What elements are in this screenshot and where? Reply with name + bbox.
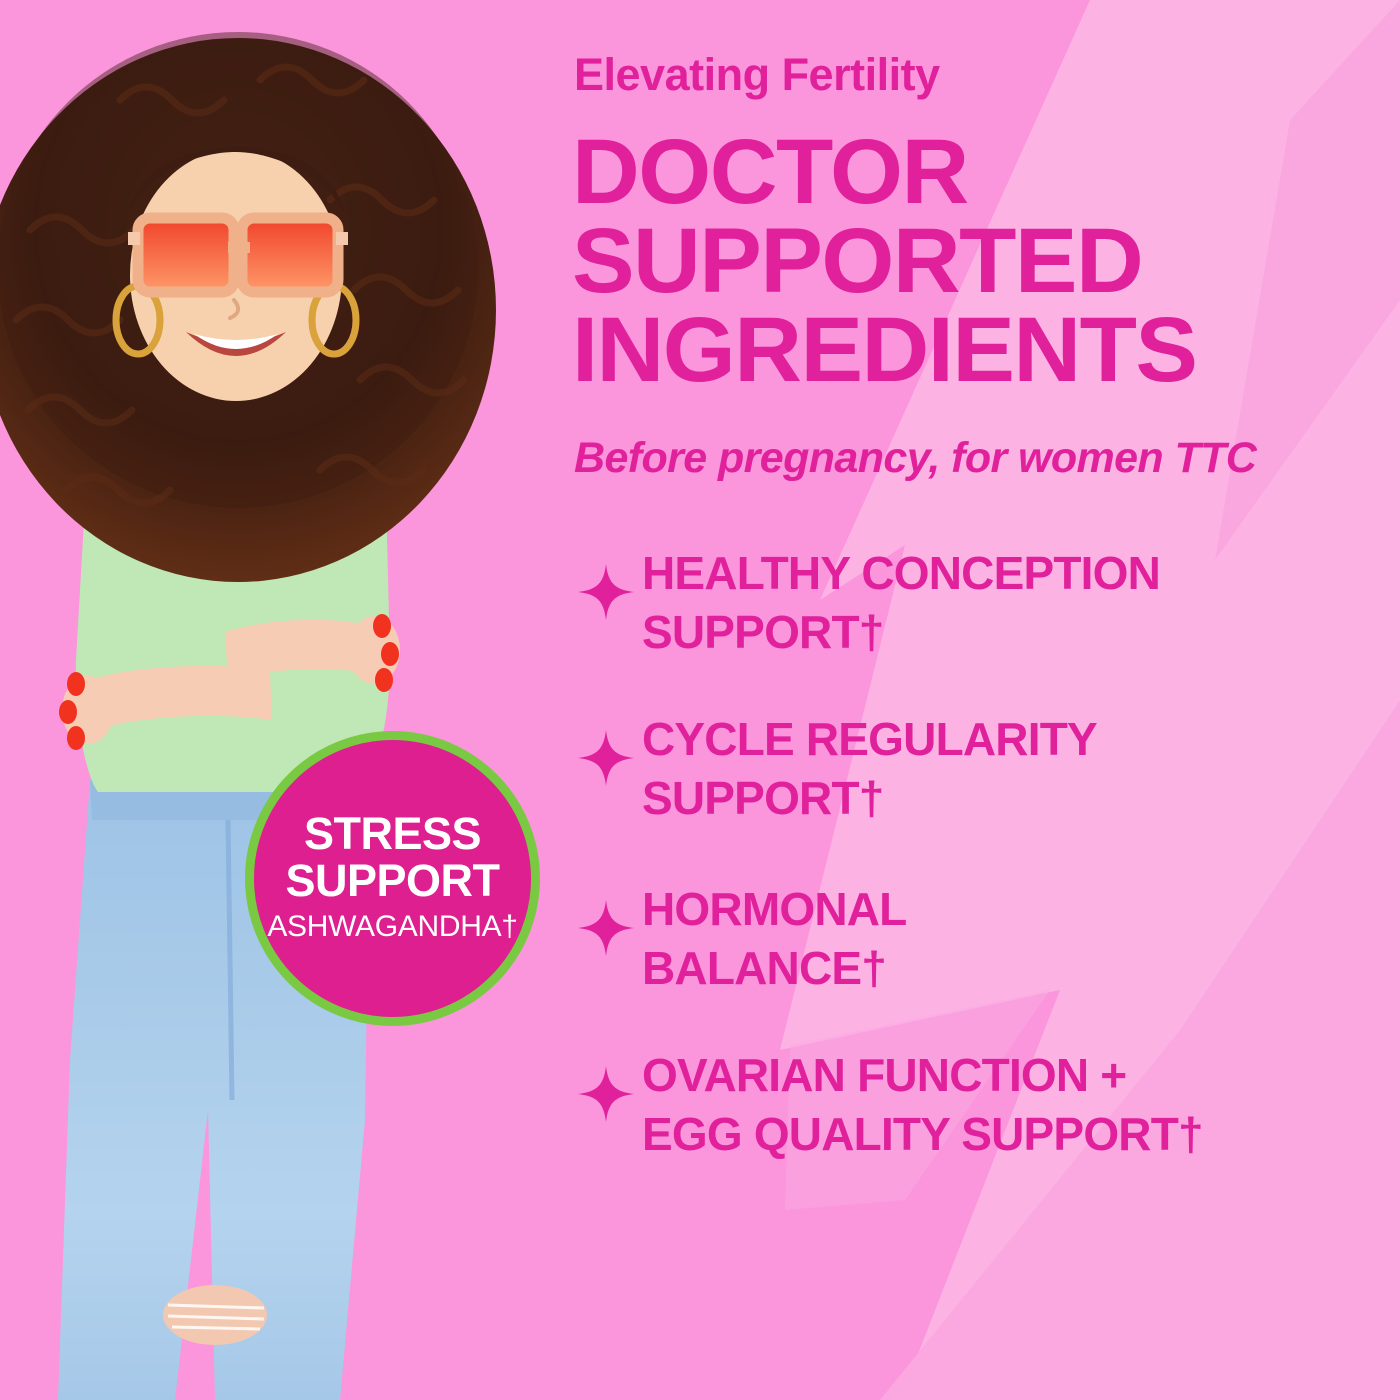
nail: [373, 614, 391, 638]
sparkle-icon: [570, 528, 642, 664]
benefit-item: CYCLE REGULARITY SUPPORT†: [570, 694, 1400, 830]
headline-line-1: DOCTOR: [572, 128, 1400, 217]
benefit-item: OVARIAN FUNCTION + EGG QUALITY SUPPORT†: [570, 1030, 1400, 1166]
benefit-line-1: HORMONAL: [642, 880, 1400, 939]
sparkle-icon: [570, 1030, 642, 1166]
badge-line-1: STRESS: [304, 811, 481, 858]
copy-column: Elevating Fertility DOCTOR SUPPORTED ING…: [562, 0, 1400, 1400]
benefit-line-2: EGG QUALITY SUPPORT†: [642, 1105, 1400, 1164]
sunglasses: [128, 218, 348, 292]
benefit-line-2: SUPPORT†: [642, 603, 1400, 662]
benefit-line-1: OVARIAN FUNCTION +: [642, 1046, 1400, 1105]
subheadline: Before pregnancy, for women TTC: [574, 437, 1256, 480]
sparkle-icon: [570, 694, 642, 830]
benefit-item: HEALTHY CONCEPTION SUPPORT†: [570, 528, 1400, 664]
benefit-label: OVARIAN FUNCTION + EGG QUALITY SUPPORT†: [642, 1030, 1400, 1164]
benefit-item: HORMONAL BALANCE†: [570, 864, 1400, 1000]
nail: [59, 700, 77, 724]
benefit-line-1: CYCLE REGULARITY: [642, 710, 1400, 769]
benefit-label: CYCLE REGULARITY SUPPORT†: [642, 694, 1400, 828]
benefit-line-2: BALANCE†: [642, 939, 1400, 998]
eyebrow-text: Elevating Fertility: [574, 52, 940, 97]
promo-graphic: Elevating Fertility DOCTOR SUPPORTED ING…: [0, 0, 1400, 1400]
sparkle-icon: [570, 864, 642, 1000]
nail: [67, 726, 85, 750]
benefit-label: HORMONAL BALANCE†: [642, 864, 1400, 998]
benefit-line-1: HEALTHY CONCEPTION: [642, 544, 1400, 603]
nail: [381, 642, 399, 666]
badge-line-2: SUPPORT: [285, 858, 499, 905]
benefit-list: HEALTHY CONCEPTION SUPPORT† CYCLE REGULA…: [570, 528, 1400, 1194]
page-title: DOCTOR SUPPORTED INGREDIENTS: [572, 128, 1400, 396]
headline-line-3: INGREDIENTS: [572, 306, 1400, 395]
benefit-label: HEALTHY CONCEPTION SUPPORT†: [642, 528, 1400, 662]
headline-line-2: SUPPORTED: [572, 217, 1400, 306]
benefit-line-2: SUPPORT†: [642, 769, 1400, 828]
nail: [67, 672, 85, 696]
stress-support-badge: STRESS SUPPORT ASHWAGANDHA†: [245, 731, 540, 1026]
badge-line-3: ASHWAGANDHA†: [267, 908, 517, 946]
nail: [375, 668, 393, 692]
model-photo: [0, 20, 590, 1400]
